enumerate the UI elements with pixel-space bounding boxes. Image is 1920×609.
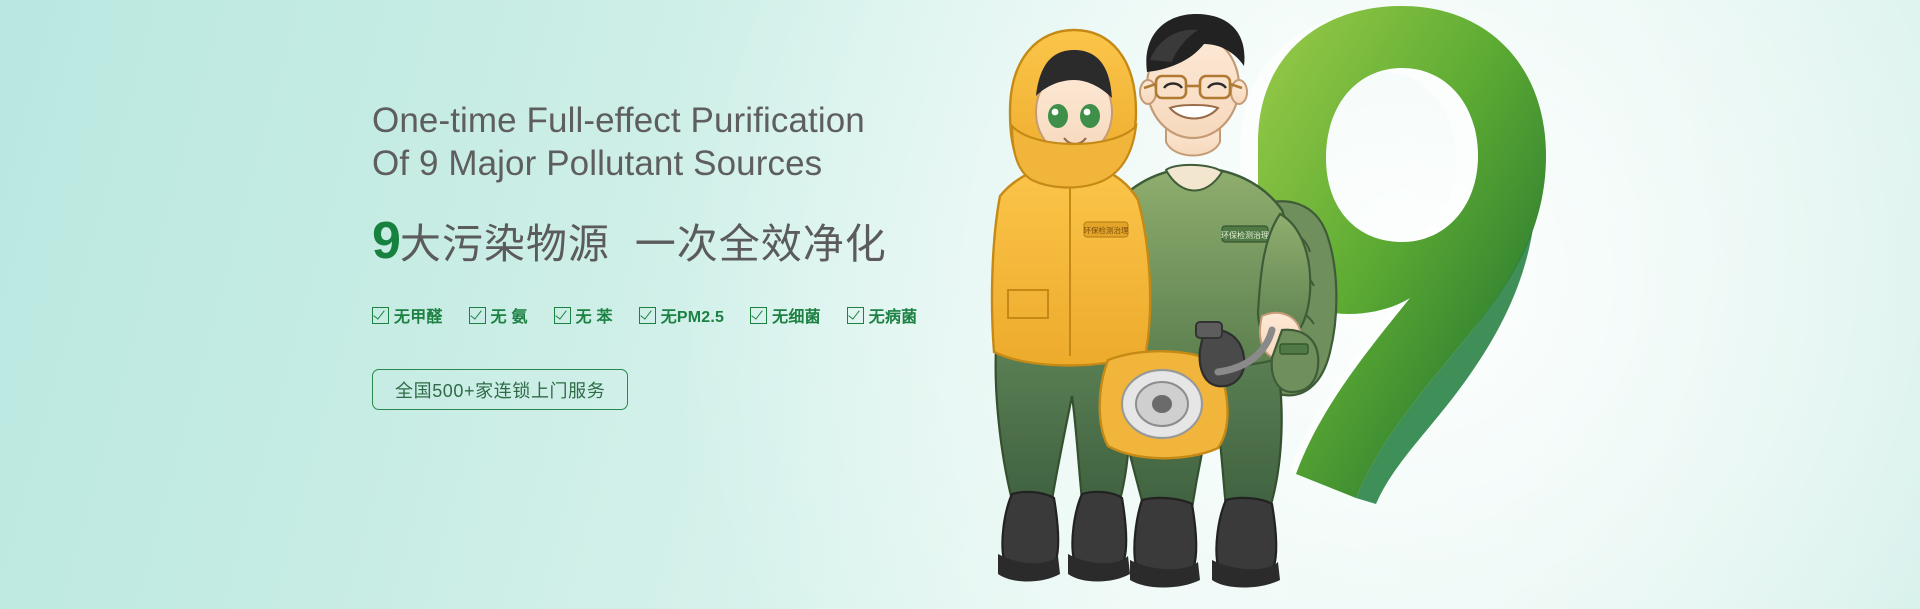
child-in-yellow-raincoat: 环保检测治理 — [992, 30, 1150, 582]
check-label: 无 氨 — [491, 303, 528, 327]
check-label: 无细菌 — [772, 303, 821, 327]
checkbox-checked-icon — [372, 307, 389, 324]
check-item-3: 无PM2.5 — [639, 303, 724, 327]
checkbox-checked-icon — [639, 307, 656, 324]
checkbox-checked-icon — [847, 307, 864, 324]
check-item-5: 无病菌 — [847, 303, 918, 327]
headline-number: 9 — [372, 215, 400, 267]
check-label: 无 苯 — [576, 303, 613, 327]
check-label: 无病菌 — [869, 303, 918, 327]
checkbox-checked-icon — [750, 307, 767, 324]
check-label: 无PM2.5 — [661, 303, 724, 327]
check-item-4: 无细菌 — [750, 303, 821, 327]
check-label: 无甲醛 — [394, 303, 443, 327]
check-item-0: 无甲醛 — [372, 303, 443, 327]
checkbox-checked-icon — [554, 307, 571, 324]
svg-text:环保检测治理: 环保检测治理 — [1221, 230, 1269, 240]
hero-illustration: 环保检测治理 — [990, 0, 1630, 609]
english-headline: One-time Full-effect Purification Of 9 M… — [372, 100, 1012, 185]
headline-chinese-text: 大污染物源 一次全效净化 — [400, 224, 887, 265]
feature-checklist: 无甲醛 无 氨 无 苯 无PM2.5 无细菌 无病菌 — [372, 303, 1012, 327]
checkbox-checked-icon — [469, 307, 486, 324]
promo-banner: 环保检测治理 — [0, 0, 1920, 609]
check-item-1: 无 氨 — [469, 303, 528, 327]
banner-copy: One-time Full-effect Purification Of 9 M… — [372, 100, 1012, 410]
chinese-headline: 9 大污染物源 一次全效净化 — [372, 215, 1012, 267]
svg-text:环保检测治理: 环保检测治理 — [1084, 225, 1129, 235]
nationwide-service-button[interactable]: 全国500+家连锁上门服务 — [372, 369, 628, 410]
check-item-2: 无 苯 — [554, 303, 613, 327]
